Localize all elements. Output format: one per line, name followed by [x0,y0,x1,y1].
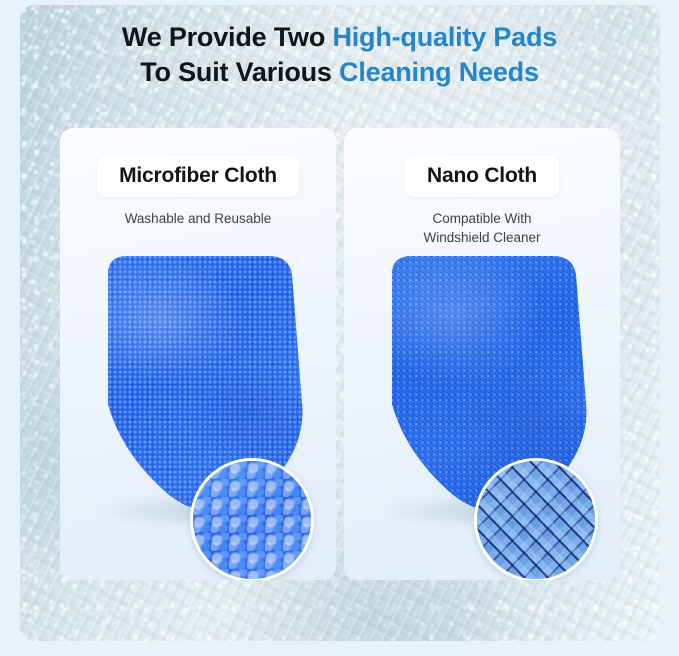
headline-line-2: To Suit Various Cleaning Needs [0,55,679,90]
product-card-nano: Nano Cloth Compatible With Windshield Cl… [344,128,620,580]
product-feature-graphic: We Provide Two High-quality Pads To Suit… [0,0,679,656]
product-subtitle-nano-line-2: Windshield Cleaner [344,229,620,248]
product-title-pill-microfiber: Microfiber Cloth [97,156,299,197]
product-cards-row: Microfiber Cloth Washable and Reusable N… [60,128,620,580]
texture-zoom-inset-microfiber [190,458,314,580]
headline-line-1: We Provide Two High-quality Pads [0,20,679,55]
texture-zoom-fill-microfiber [193,461,311,579]
texture-zoom-inset-nano [474,458,598,580]
headline-line-1-accent: High-quality Pads [332,22,557,52]
headline-line-1-dark: We Provide Two [122,22,333,52]
product-title-microfiber: Microfiber Cloth [119,165,277,186]
product-subtitle-microfiber-line-1: Washable and Reusable [60,210,336,229]
product-card-microfiber: Microfiber Cloth Washable and Reusable [60,128,336,580]
texture-zoom-fill-nano [477,461,595,579]
product-subtitle-nano: Compatible With Windshield Cleaner [344,210,620,247]
product-subtitle-nano-line-1: Compatible With [344,210,620,229]
page-title: We Provide Two High-quality Pads To Suit… [0,20,679,89]
product-title-nano: Nano Cloth [427,165,537,186]
headline-line-2-accent: Cleaning Needs [339,57,539,87]
product-subtitle-microfiber: Washable and Reusable [60,210,336,229]
product-title-pill-nano: Nano Cloth [405,156,559,197]
headline-line-2-dark: To Suit Various [140,57,339,87]
